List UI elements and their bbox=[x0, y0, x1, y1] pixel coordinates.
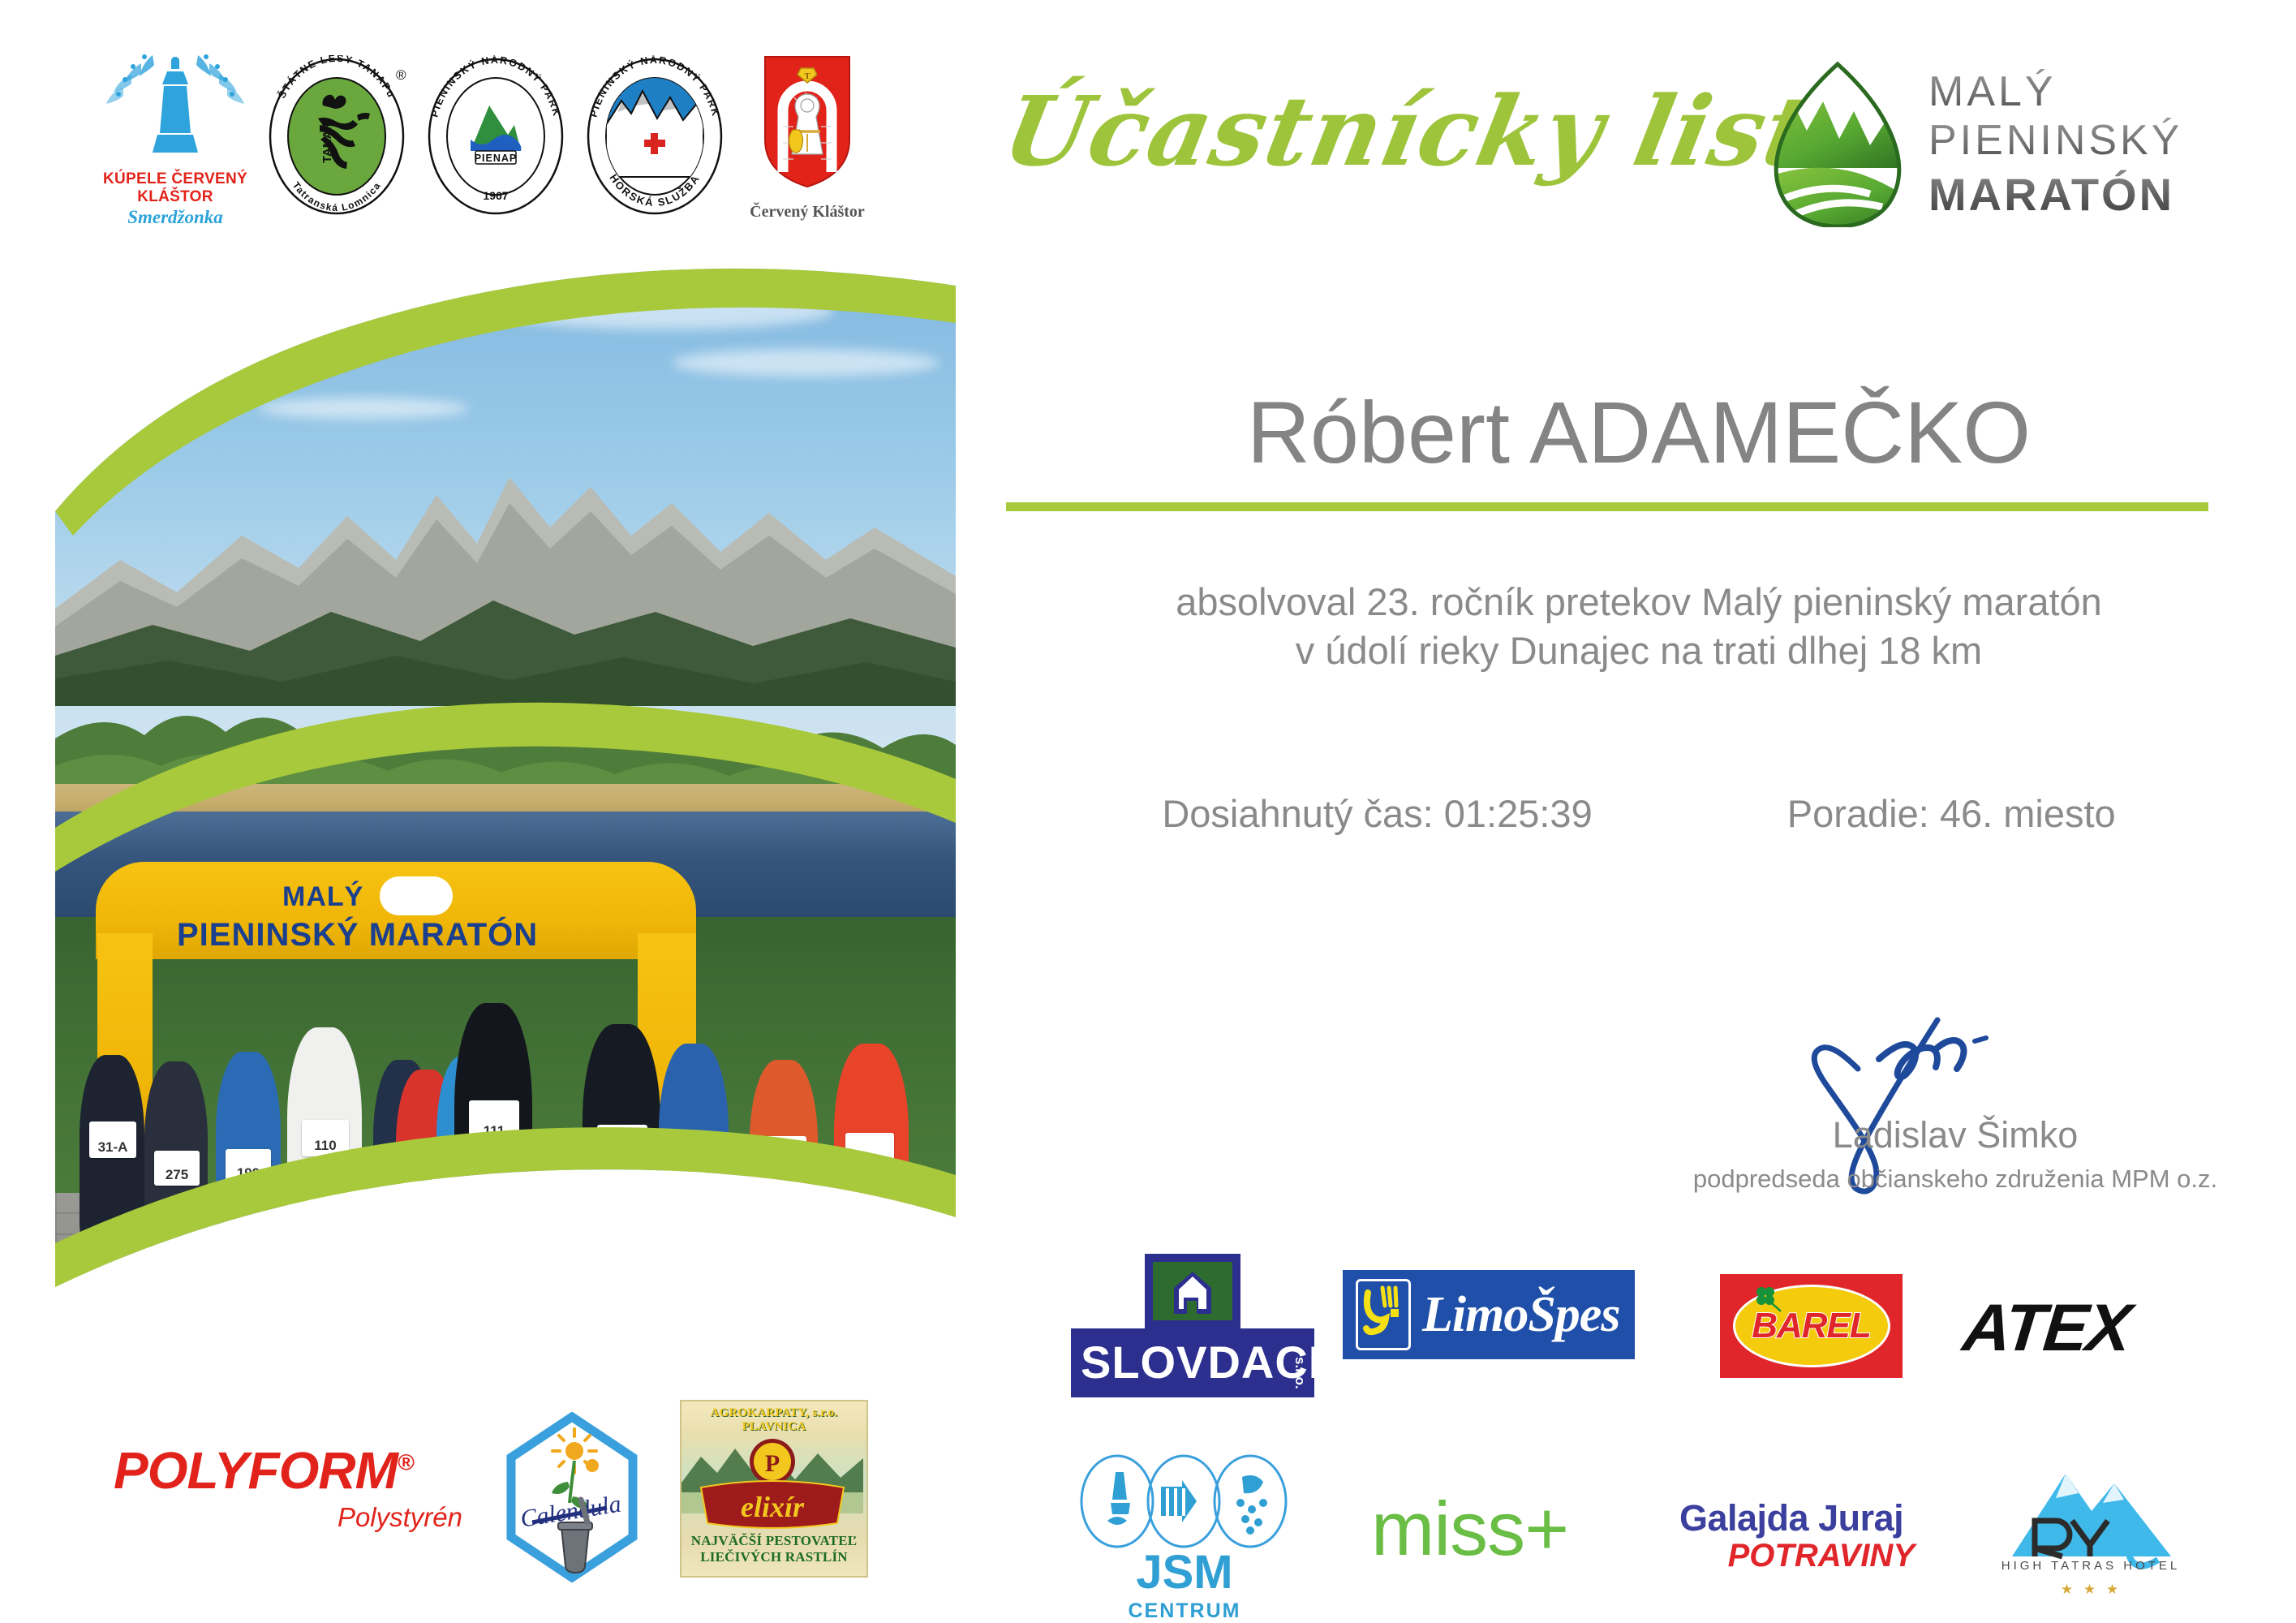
runner-bib: 31-A bbox=[89, 1121, 136, 1158]
runner-bib: 111 bbox=[469, 1100, 519, 1142]
description-line-2: v údolí rieky Dunajec na trati dlhej 18 … bbox=[1006, 626, 2272, 675]
signer-name: Ladislav Šimko bbox=[1631, 1114, 2280, 1156]
coa-caption: Červený Kláštor bbox=[738, 203, 876, 222]
svg-text:®: ® bbox=[396, 67, 406, 83]
limospes-mark-icon bbox=[1356, 1279, 1411, 1350]
polyform-name: POLYFORM bbox=[114, 1441, 398, 1500]
limospes-name: LimoŠpes bbox=[1422, 1286, 1619, 1344]
logo-miss-plus: miss+ bbox=[1371, 1485, 1568, 1573]
organiser-logo-strip: KÚPELE ČERVENÝ KLÁŠTOR Smerdžonka bbox=[89, 39, 957, 234]
finish-time: Dosiahnutý čas: 01:25:39 bbox=[1162, 791, 1592, 836]
runner-bib: 275 bbox=[154, 1151, 200, 1186]
logo-limospes: LimoŠpes s.r.o. bbox=[1343, 1270, 1635, 1359]
svg-text:P: P bbox=[765, 1450, 780, 1477]
logo-statne-lesy-tanapu: ŠTÁTNE LESY TANAPu Tatranská Lomnica TAN… bbox=[261, 55, 420, 226]
slovdach-suffix: s.r.o. bbox=[1292, 1357, 1308, 1389]
limospes-suffix: s.r.o. bbox=[1631, 1317, 1647, 1350]
jsm-name: JSM bbox=[1071, 1545, 1298, 1599]
kupele-label-line1: KÚPELE ČERVENÝ KLÁŠTOR bbox=[89, 170, 261, 206]
galajda-line1: Galajda Juraj bbox=[1679, 1497, 1915, 1539]
jsm-tools-icon bbox=[1071, 1453, 1298, 1550]
photo-pieniny-mountains bbox=[55, 243, 956, 844]
photo-race-start: MALÝ PIENINSKÝ MARATÓN 31-A 275 199 110 … bbox=[55, 811, 956, 1404]
rysy-stars: ★ ★ ★ bbox=[1988, 1582, 2195, 1598]
polyform-reg: ® bbox=[398, 1450, 414, 1475]
elixir-word: elixír bbox=[741, 1491, 805, 1523]
logo-rysy-hotel: HIGH TATRAS HOTEL ★ ★ ★ bbox=[1988, 1453, 2195, 1595]
logo-kupele-cerveny-klastor: KÚPELE ČERVENÝ KLÁŠTOR Smerdžonka bbox=[89, 39, 261, 234]
arch-logo-badge bbox=[380, 876, 453, 915]
logo-pieninsky-narodny-park: PIENAP PIENINSKÝ NÁRODNÝ PARK 1967 bbox=[420, 55, 579, 226]
participant-name: Róbert ADAMEČKO bbox=[1006, 381, 2272, 483]
brand-line-2: PIENINSKÝ bbox=[1928, 116, 2182, 165]
galajda-line2: POTRAVINY bbox=[1679, 1538, 1915, 1574]
description-line-1: absolvoval 23. ročník pretekov Malý pien… bbox=[1006, 578, 2272, 626]
rysy-sub: HIGH TATRAS HOTEL bbox=[2001, 1559, 2181, 1573]
agrokarpaty-top-text: AGROKARPATY, s.r.o. PLAVNICA bbox=[681, 1401, 866, 1434]
page-title: Účastnícky list bbox=[995, 75, 1731, 187]
runner-bib: 199 bbox=[226, 1149, 271, 1184]
runner-bib: 109 bbox=[597, 1125, 647, 1166]
logo-agrokarpaty-elixir: AGROKARPATY, s.r.o. PLAVNICA P elixír NA… bbox=[680, 1400, 868, 1578]
logo-cerveny-klastor-erb: T Červený Kláštor bbox=[738, 52, 876, 247]
runner-bib: 230 bbox=[759, 1136, 806, 1173]
jsm-sub: CENTRUM bbox=[1071, 1599, 1298, 1623]
logo-atex: ATEX bbox=[1959, 1290, 2133, 1367]
svg-text:PIENAP: PIENAP bbox=[475, 153, 518, 164]
slovdach-name: SLOVDACH bbox=[1081, 1336, 1305, 1388]
runner-bib: 111 bbox=[669, 1134, 716, 1173]
miss-name: miss bbox=[1371, 1486, 1524, 1571]
kupele-label-line2: Smerdžonka bbox=[89, 207, 261, 228]
slovdach-roof-icon bbox=[1145, 1254, 1240, 1328]
agrokarpaty-line1: NAJVÄČŠÍ PESTOVATEĽ bbox=[681, 1533, 866, 1549]
logo-calendula: Calendula bbox=[503, 1412, 641, 1582]
svg-text:1967: 1967 bbox=[483, 189, 508, 202]
result-stats: Dosiahnutý čas: 01:25:39 Poradie: 46. mi… bbox=[1006, 791, 2272, 836]
certificate-page: KÚPELE ČERVENÝ KLÁŠTOR Smerdžonka bbox=[0, 0, 2296, 1623]
arch-text-line2: PIENINSKÝ MARATÓN bbox=[177, 917, 538, 954]
mpm-leaf-mountain-icon bbox=[1765, 61, 1911, 227]
svg-text:T: T bbox=[804, 71, 810, 81]
logo-slovdach: SLOVDACH s.r.o. bbox=[1071, 1254, 1314, 1397]
brand-logo: MALÝ PIENINSKÝ MARATÓN bbox=[1765, 57, 2284, 231]
brand-line-3: MARATÓN bbox=[1928, 168, 2182, 221]
runner-bib: 110 bbox=[302, 1120, 349, 1156]
brand-line-1: MALÝ bbox=[1928, 67, 2182, 116]
logo-horska-sluzba: PIENINSKÝ NÁRODNÝ PARK HORSKÁ SLUŽBA bbox=[579, 55, 738, 226]
logo-barel: BAREL bbox=[1720, 1274, 1903, 1378]
logo-jsm-centrum: JSM CENTRUM bbox=[1071, 1453, 1298, 1623]
accent-divider bbox=[1006, 502, 2208, 511]
arch-text-line1: MALÝ bbox=[282, 881, 363, 913]
logo-polyform: POLYFORM® Polystyrén bbox=[114, 1440, 462, 1533]
signer-role: podpredseda občianskeho združenia MPM o.… bbox=[1631, 1165, 2280, 1194]
photo-collage: MALÝ PIENINSKÝ MARATÓN 31-A 275 199 110 … bbox=[55, 243, 956, 1404]
signature-block: Ladislav Šimko podpredseda občianskeho z… bbox=[1631, 1010, 2280, 1194]
ranking-place: Poradie: 46. miesto bbox=[1787, 791, 2116, 836]
agrokarpaty-line2: LIEČIVÝCH RASTLÍN bbox=[681, 1549, 866, 1565]
achievement-description: absolvoval 23. ročník pretekov Malý pien… bbox=[1006, 578, 2272, 675]
miss-plus-sign: + bbox=[1524, 1486, 1568, 1571]
kupele-figure-icon bbox=[89, 39, 261, 169]
polyform-tagline: Polystyrén bbox=[114, 1502, 462, 1533]
logo-galajda-juraj: Galajda Juraj POTRAVINY bbox=[1679, 1497, 1915, 1574]
runner-bib: 219 bbox=[845, 1133, 894, 1171]
svg-text:TANAP: TANAP bbox=[320, 122, 334, 163]
